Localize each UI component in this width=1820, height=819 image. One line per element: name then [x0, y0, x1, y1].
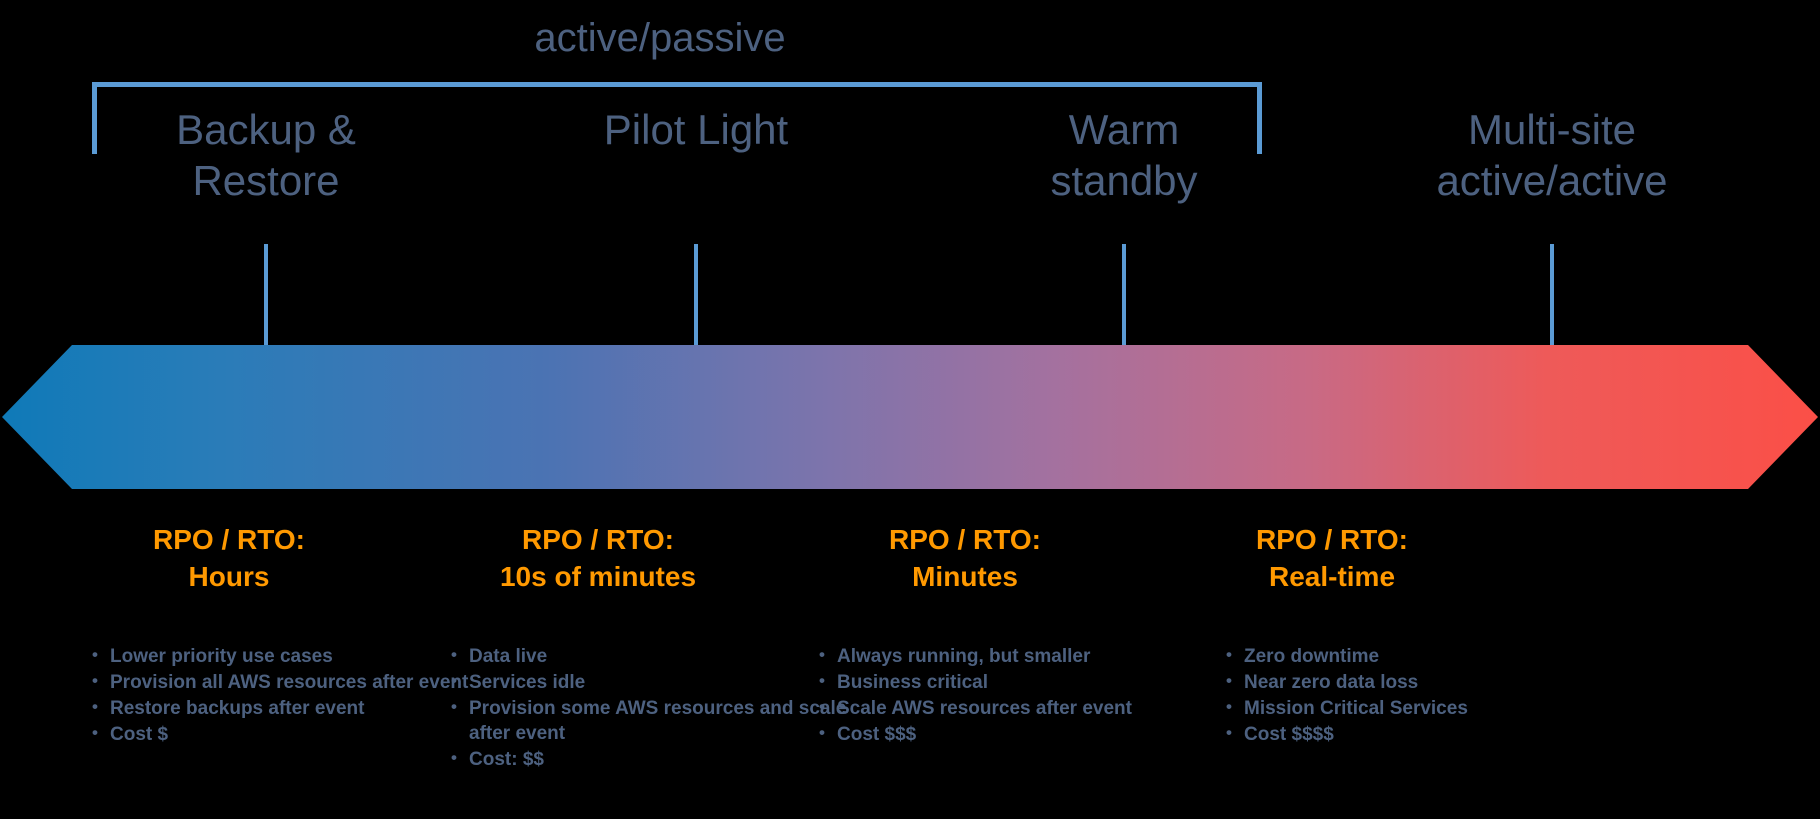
- list-item: Cost $$$: [815, 722, 1215, 747]
- list-item: Provision some AWS resources and scale a…: [447, 696, 847, 746]
- list-item: Cost $: [88, 722, 488, 747]
- bullet-list-warm-standby: Always running, but smaller Business cri…: [815, 644, 1215, 748]
- list-item: Zero downtime: [1222, 644, 1622, 669]
- strategy-title-line: standby: [1050, 157, 1197, 204]
- list-item: Cost: $$: [447, 747, 847, 772]
- list-item: Scale AWS resources after event: [815, 696, 1215, 721]
- gradient-spectrum-arrow: [0, 342, 1820, 492]
- rpo-rto-warm-standby: RPO / RTO: Minutes: [785, 522, 1145, 596]
- dr-spectrum-diagram: active/passive Backup & Restore Pilot Li…: [0, 0, 1820, 819]
- strategy-title-line: Multi-site: [1468, 106, 1636, 153]
- rpo-rto-label: RPO / RTO:: [49, 522, 409, 559]
- strategy-title-line: Restore: [192, 157, 339, 204]
- strategy-title-line: active/active: [1436, 157, 1667, 204]
- list-item: Provision all AWS resources after event: [88, 670, 488, 695]
- list-item: Always running, but smaller: [815, 644, 1215, 669]
- strategy-title-line: Warm: [1069, 106, 1179, 153]
- list-item: Near zero data loss: [1222, 670, 1622, 695]
- list-item: Restore backups after event: [88, 696, 488, 721]
- list-item: Mission Critical Services: [1222, 696, 1622, 721]
- rpo-rto-label: RPO / RTO:: [418, 522, 778, 559]
- list-item: Data live: [447, 644, 847, 669]
- rpo-rto-value: Real-time: [1152, 559, 1512, 596]
- list-item: Lower priority use cases: [88, 644, 488, 669]
- rpo-rto-value: Minutes: [785, 559, 1145, 596]
- bullet-list-multi-site: Zero downtime Near zero data loss Missio…: [1222, 644, 1622, 748]
- rpo-rto-pilot-light: RPO / RTO: 10s of minutes: [418, 522, 778, 596]
- rpo-rto-label: RPO / RTO:: [1152, 522, 1512, 559]
- strategy-title-line: Pilot Light: [604, 106, 788, 153]
- rpo-rto-value: Hours: [49, 559, 409, 596]
- bullet-list-pilot-light: Data live Services idle Provision some A…: [447, 644, 847, 773]
- rpo-rto-multi-site: RPO / RTO: Real-time: [1152, 522, 1512, 596]
- rpo-rto-label: RPO / RTO:: [785, 522, 1145, 559]
- strategy-title-backup-restore: Backup & Restore: [86, 104, 446, 206]
- strategy-title-warm-standby: Warm standby: [944, 104, 1304, 206]
- active-passive-label: active/passive: [430, 16, 890, 60]
- strategy-title-pilot-light: Pilot Light: [516, 104, 876, 155]
- list-item: Business critical: [815, 670, 1215, 695]
- list-item: Cost $$$$: [1222, 722, 1622, 747]
- spectrum-arrow-shape: [2, 345, 1818, 489]
- bullet-list-backup-restore: Lower priority use cases Provision all A…: [88, 644, 488, 748]
- rpo-rto-value: 10s of minutes: [418, 559, 778, 596]
- strategy-title-line: Backup &: [176, 106, 356, 153]
- strategy-title-multi-site: Multi-site active/active: [1372, 104, 1732, 206]
- list-item: Services idle: [447, 670, 847, 695]
- rpo-rto-backup-restore: RPO / RTO: Hours: [49, 522, 409, 596]
